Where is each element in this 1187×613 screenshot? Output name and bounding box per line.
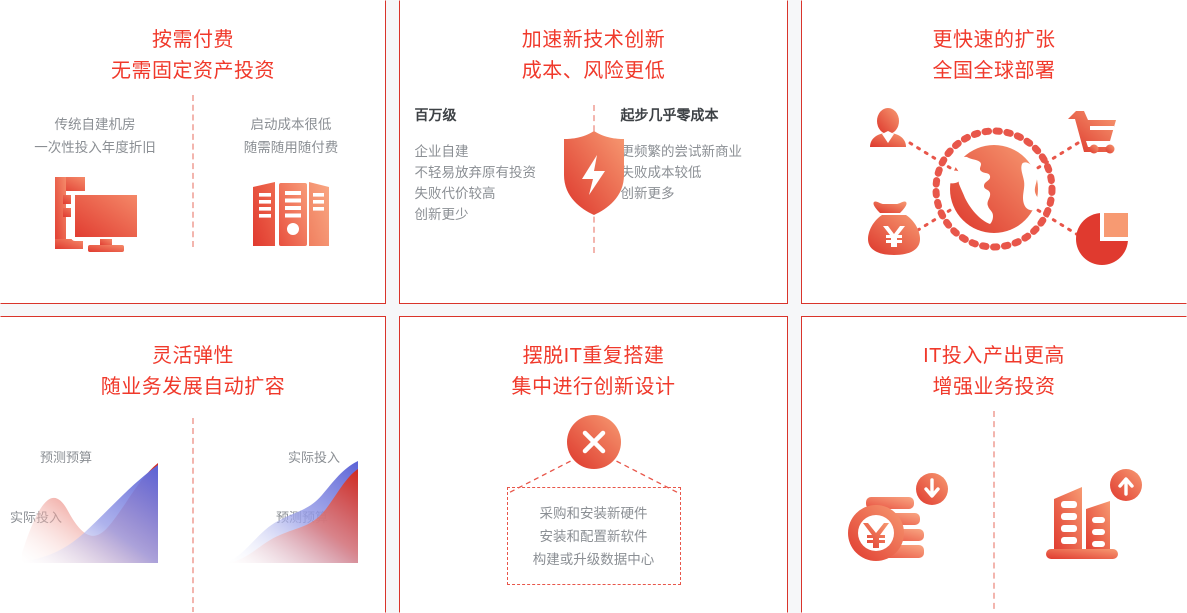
arrow-down-badge-icon [916, 473, 948, 505]
elimination-diagram: 采购和安装新硬件 安装和配置新软件 构建或升级数据中心 [400, 403, 787, 612]
card-body: 百万级 企业自建 不轻易放弃原有投资 失败代价较高 创新更少 起步几乎零成本 更… [400, 87, 787, 303]
card-title-line-1: 按需付费 [111, 25, 275, 56]
column-left [807, 403, 985, 613]
text-line: 传统自建机房 [34, 113, 156, 136]
card-body [802, 87, 1186, 303]
column-divider [993, 411, 995, 613]
list-item: 失败成本较低 [621, 162, 783, 183]
card-title-line-2: 全国全球部署 [933, 56, 1056, 87]
pie-chart-icon [1076, 211, 1130, 265]
arrow-up-badge-icon [1110, 469, 1142, 501]
task-line: 安装和配置新软件 [540, 525, 648, 548]
text-line: 随需随用随付费 [244, 136, 339, 159]
card-title-line-1: 加速新技术创新 [522, 25, 666, 56]
card-body: 预测预算 实际投入 [1, 403, 385, 613]
column-right: 实际投入 预测预算 [202, 403, 380, 613]
money-bag-yen-icon [868, 201, 920, 255]
card-title-line-2: 无需固定资产投资 [111, 56, 275, 87]
list-item: 更频繁的尝试新商业 [621, 141, 783, 162]
chart-forecast-vs-actual-left: 预测预算 实际投入 [6, 403, 184, 613]
card-title: 加速新技术创新 成本、风险更低 [522, 25, 666, 87]
eliminated-tasks-box: 采购和安装新硬件 安装和配置新软件 构建或升级数据中心 [507, 487, 681, 585]
text-line: 启动成本很低 [244, 113, 339, 136]
task-line: 采购和安装新硬件 [540, 502, 648, 525]
shield-bolt-icon [556, 127, 632, 219]
card-title: IT投入产出更高 增强业务投资 [923, 341, 1065, 403]
task-line: 构建或升级数据中心 [533, 548, 655, 571]
column-divider [192, 418, 194, 613]
feature-card-grid: 按需付费 无需固定资产投资 传统自建机房 一次性投入年度折旧 [0, 0, 1187, 613]
chart-forecast-vs-actual-right: 实际投入 预测预算 [202, 403, 380, 613]
two-column-layout [802, 403, 1186, 613]
global-deployment-illustration [844, 93, 1144, 283]
card-pay-as-you-go: 按需付费 无需固定资产投资 传统自建机房 一次性投入年度折旧 [0, 0, 386, 304]
card-title-line-2: 成本、风险更低 [522, 56, 666, 87]
card-title: 摆脱IT重复搭建 集中进行创新设计 [512, 341, 676, 403]
card-no-repeat-it-build: 摆脱IT重复搭建 集中进行创新设计 [399, 316, 788, 613]
card-title-line-2: 随业务发展自动扩容 [101, 372, 286, 403]
card-title-line-1: 灵活弹性 [101, 341, 286, 372]
card-title: 按需付费 无需固定资产投资 [111, 25, 275, 87]
two-column-layout: 传统自建机房 一次性投入年度折旧 [1, 87, 385, 303]
card-title-line-1: 摆脱IT重复搭建 [512, 341, 676, 372]
two-column-layout: 预测预算 实际投入 [1, 403, 385, 613]
card-title: 更快速的扩张 全国全球部署 [933, 25, 1056, 87]
office-buildings-icon [1036, 463, 1148, 579]
column-left-heading: 百万级 [415, 105, 585, 125]
column-left: 传统自建机房 一次性投入年度折旧 [6, 87, 184, 303]
card-title-line-1: IT投入产出更高 [923, 341, 1065, 372]
card-faster-expansion: 更快速的扩张 全国全球部署 [801, 0, 1187, 304]
server-rack-icon [239, 171, 343, 257]
x-circle-icon [567, 415, 621, 469]
card-body [802, 403, 1186, 613]
card-elastic-scaling: 灵活弹性 随业务发展自动扩容 预测预算 实际投入 [0, 316, 386, 613]
column-left: 预测预算 实际投入 [6, 403, 184, 613]
column-right-heading: 起步几乎零成本 [621, 105, 783, 125]
coins-yen-icon [836, 469, 956, 579]
card-body: 采购和安装新硬件 安装和配置新软件 构建或升级数据中心 [400, 403, 787, 612]
globe-icon [946, 145, 1040, 233]
card-accelerate-innovation: 加速新技术创新 成本、风险更低 百万级 企业自建 不轻易放弃原有投资 失败代价较… [399, 0, 788, 304]
card-title-line-1: 更快速的扩张 [933, 25, 1056, 56]
shopping-cart-icon [1068, 111, 1116, 154]
desktop-computer-icon [43, 171, 147, 257]
column-right-text: 启动成本很低 随需随用随付费 [244, 113, 339, 159]
column-right: 启动成本很低 随需随用随付费 [202, 87, 380, 303]
card-title-line-2: 增强业务投资 [923, 372, 1065, 403]
card-title: 灵活弹性 随业务发展自动扩容 [101, 341, 286, 403]
column-right [1003, 403, 1181, 613]
card-title-line-2: 集中进行创新设计 [512, 372, 676, 403]
businessman-icon [870, 108, 906, 147]
list-item: 创新更多 [621, 183, 783, 204]
card-body: 传统自建机房 一次性投入年度折旧 [1, 87, 385, 303]
card-higher-it-roi: IT投入产出更高 增强业务投资 [801, 316, 1187, 613]
column-divider [192, 95, 194, 247]
text-line: 一次性投入年度折旧 [34, 136, 156, 159]
column-left-text: 传统自建机房 一次性投入年度折旧 [34, 113, 156, 159]
column-right-list: 更频繁的尝试新商业 失败成本较低 创新更多 [621, 141, 783, 204]
